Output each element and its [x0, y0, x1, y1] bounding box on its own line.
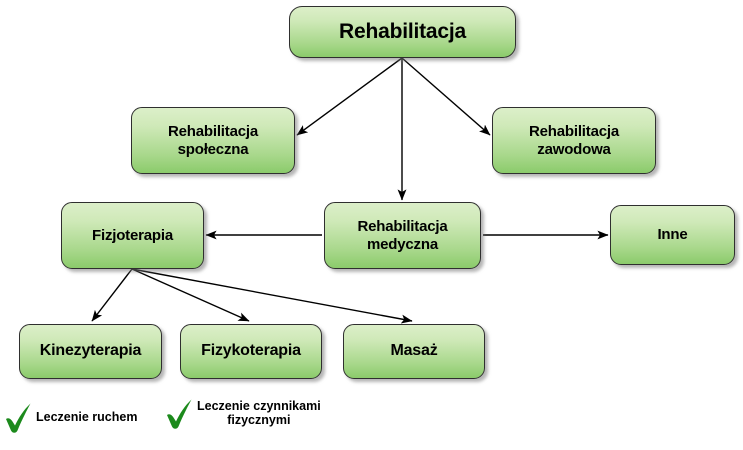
node-label: Rehabilitacjazawodowa: [523, 123, 625, 158]
node-label: Kinezyterapia: [34, 342, 147, 361]
node-fizykoterapia[interactable]: Fizykoterapia: [180, 324, 322, 379]
edge-rehabilitacja-spoleczna: [297, 58, 402, 135]
edge-fizjoterapia-fizykoterapia: [132, 269, 249, 321]
node-label-line: Kinezyterapia: [34, 342, 147, 361]
legend-label-line: Leczenie czynnikami: [197, 399, 321, 413]
legend-label-line: fizycznymi: [197, 413, 321, 427]
legend-item-leczenie-ruchem: Leczenie ruchem: [2, 400, 167, 434]
node-label: Rehabilitacja: [333, 20, 472, 45]
node-masaz[interactable]: Masaż: [343, 324, 485, 379]
node-label: Inne: [651, 226, 693, 244]
node-label-line: Rehabilitacja: [333, 20, 472, 45]
diagram-canvas: RehabilitacjaRehabilitacjaspołecznaRehab…: [0, 0, 743, 450]
legend-label: Leczenie czynnikamifizycznymi: [197, 399, 321, 428]
node-label-line: Rehabilitacja: [162, 123, 264, 141]
edge-fizjoterapia-masaz: [132, 269, 412, 321]
node-rehabilitacja-zawodowa[interactable]: Rehabilitacjazawodowa: [492, 107, 656, 174]
node-rehabilitacja-medyczna[interactable]: Rehabilitacjamedyczna: [324, 202, 481, 269]
node-label: Masaż: [384, 342, 443, 361]
check-icon: [2, 400, 34, 434]
edge-fizjoterapia-kinezyterapia: [92, 269, 132, 321]
node-label: Fizjoterapia: [86, 227, 179, 245]
node-label-line: Rehabilitacja: [523, 123, 625, 141]
node-inne[interactable]: Inne: [610, 205, 735, 265]
node-rehabilitacja-spoleczna[interactable]: Rehabilitacjaspołeczna: [131, 107, 295, 174]
node-label-line: zawodowa: [523, 141, 625, 159]
node-label-line: Rehabilitacja: [352, 218, 454, 236]
node-label-line: medyczna: [352, 236, 454, 254]
node-label-line: Masaż: [384, 342, 443, 361]
node-fizjoterapia[interactable]: Fizjoterapia: [61, 202, 204, 269]
node-label: Fizykoterapia: [195, 342, 307, 361]
edge-rehabilitacja-zawodowa: [402, 58, 490, 135]
legend-label: Leczenie ruchem: [36, 410, 137, 424]
node-label-line: społeczna: [162, 141, 264, 159]
node-label-line: Fizjoterapia: [86, 227, 179, 245]
node-label-line: Fizykoterapia: [195, 342, 307, 361]
node-label: Rehabilitacjamedyczna: [352, 218, 454, 253]
node-kinezyterapia[interactable]: Kinezyterapia: [19, 324, 162, 379]
legend-item-leczenie-czynnikami-fizycznymi: Leczenie czynnikamifizycznymi: [163, 396, 348, 430]
node-label: Rehabilitacjaspołeczna: [162, 123, 264, 158]
node-label-line: Inne: [651, 226, 693, 244]
node-rehabilitacja[interactable]: Rehabilitacja: [289, 6, 516, 58]
legend-label-line: Leczenie ruchem: [36, 410, 137, 424]
check-icon: [163, 396, 195, 430]
